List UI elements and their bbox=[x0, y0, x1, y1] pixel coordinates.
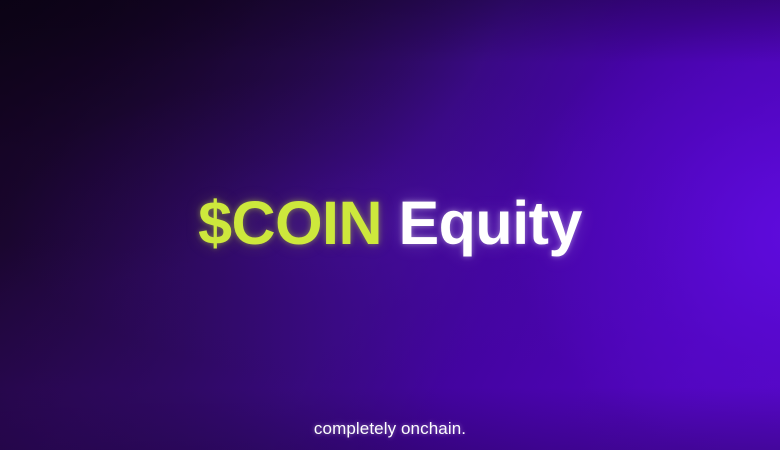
slide-content: $COIN Equity completely onchain. bbox=[0, 0, 780, 450]
brand-ticker: $COIN bbox=[198, 189, 382, 257]
brand-word: Equity bbox=[398, 189, 581, 257]
wordmark-separator bbox=[382, 189, 398, 257]
wordmark: $COIN Equity bbox=[198, 193, 582, 254]
tagline: completely onchain. bbox=[0, 419, 780, 439]
title-slide: $COIN Equity completely onchain. bbox=[0, 0, 780, 450]
headline-block: $COIN Equity bbox=[0, 0, 780, 450]
